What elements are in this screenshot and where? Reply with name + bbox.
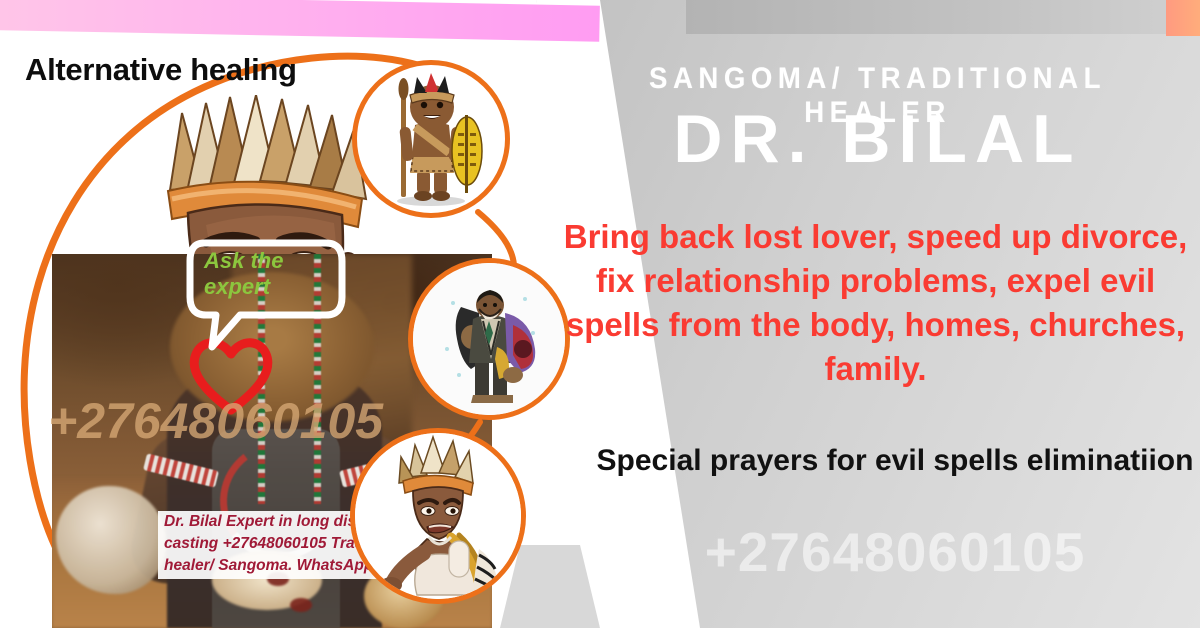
circle-crouching-warrior	[350, 428, 526, 604]
special-offer-text: Special prayers for evil spells eliminat…	[595, 440, 1195, 481]
page-title: Alternative healing	[25, 52, 297, 88]
right-content-column: SANGOMA/ TRADITIONAL HEALER DR. BILAL Br…	[555, 0, 1200, 628]
circle-zulu-warrior	[352, 60, 510, 218]
crouching-warrior-icon	[355, 433, 521, 599]
top-bar-pink	[0, 0, 600, 42]
services-text: Bring back lost lover, speed up divorce,…	[563, 215, 1188, 391]
zulu-warrior-icon	[357, 65, 505, 213]
circle-cloaked-healer	[408, 258, 570, 420]
phone-number-watermark: +27648060105	[585, 520, 1200, 584]
cloaked-healer-icon	[413, 263, 565, 415]
poster-canvas: Ask the expert +27648060105 Dr. Bilal Ex…	[0, 0, 1200, 628]
ask-the-expert-text: Ask the expert	[204, 248, 314, 300]
healer-name: DR. BILAL	[555, 100, 1200, 178]
